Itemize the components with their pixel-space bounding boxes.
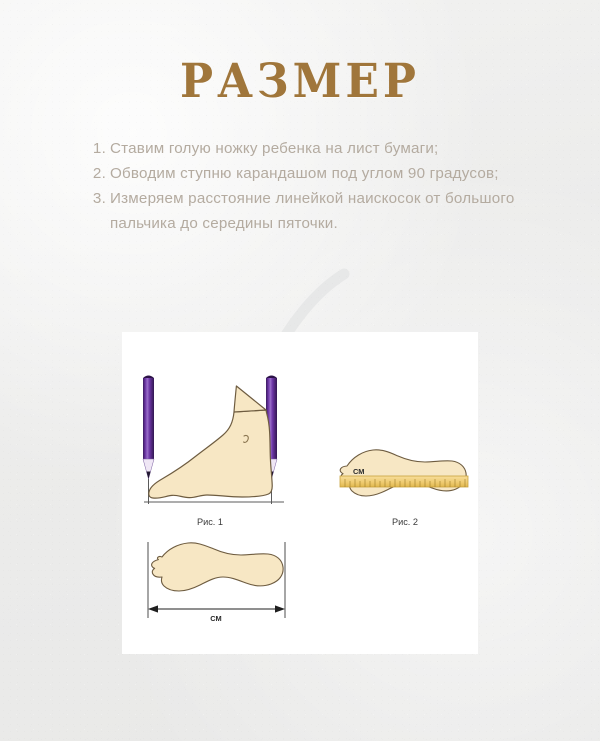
foot-outline-shape-3 [152, 543, 284, 591]
list-item: 3. Измеряем расстояние линейкой наискосо… [84, 186, 520, 236]
figure-1-caption: Рис. 1 [197, 517, 223, 527]
list-item: 1. Ставим голую ножку ребенка на лист бу… [84, 136, 520, 161]
pencil-left-icon [143, 376, 154, 480]
page-title: РАЗМЕР [0, 57, 600, 108]
figure-2-cm-label: СМ [353, 467, 364, 476]
dimension-arrow [148, 605, 285, 612]
list-item-text: Ставим голую ножку ребенка на лист бумаг… [110, 136, 520, 161]
list-item-number: 1. [84, 136, 110, 161]
list-item-text: Измеряем расстояние линейкой наискосок о… [110, 186, 520, 236]
figure-2-group: СМ Рис. 2 [340, 450, 468, 527]
illustration-svg: Рис. 1 [122, 332, 478, 654]
list-item-text: Обводим ступню карандашом под углом 90 г… [110, 161, 520, 186]
list-item-number: 3. [84, 186, 110, 211]
instruction-list: 1. Ставим голую ножку ребенка на лист бу… [84, 136, 520, 236]
foot-side-shape [149, 410, 272, 498]
figure-1-group: Рис. 1 [143, 376, 284, 528]
illustration-card: Рис. 1 [122, 332, 478, 654]
figure-3-group: СМ [148, 542, 285, 623]
list-item: 2. Обводим ступню карандашом под углом 9… [84, 161, 520, 186]
figure-2-caption: Рис. 2 [392, 517, 418, 527]
ruler-icon [340, 476, 468, 487]
figure-3-cm-label: СМ [210, 614, 221, 623]
page-root: РАЗМЕР 1. Ставим голую ножку ребенка на … [0, 0, 600, 741]
list-item-number: 2. [84, 161, 110, 186]
